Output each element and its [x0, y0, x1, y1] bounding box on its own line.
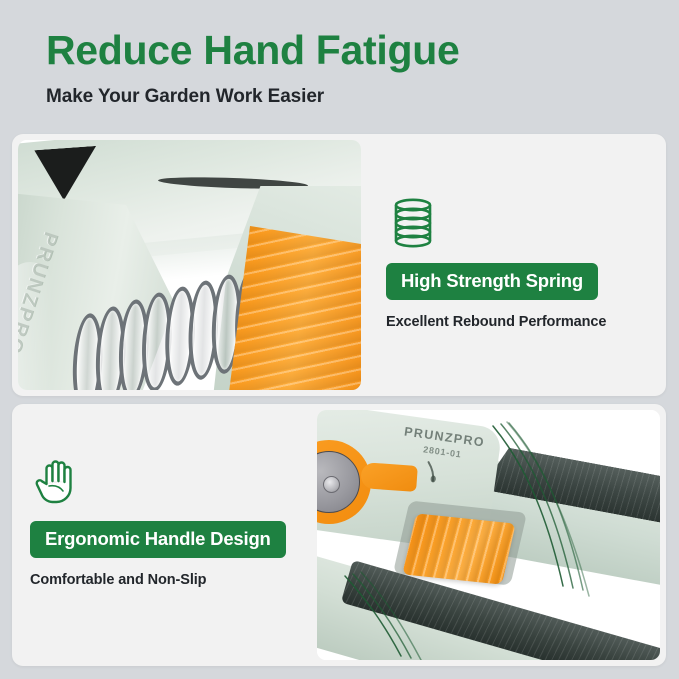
feature-text-spring: High Strength Spring Excellent Rebound P…	[386, 196, 654, 330]
pivot-screw	[323, 476, 340, 493]
spring-closeup-photo: PRUNZPRO	[18, 140, 361, 390]
pivot-orange-tab	[360, 462, 418, 492]
spring-coil-icon	[386, 196, 654, 250]
lever-rib-texture	[402, 513, 516, 584]
page-title: Reduce Hand Fatigue	[46, 28, 646, 74]
page-subtitle: Make Your Garden Work Easier	[46, 86, 646, 108]
feature-badge-handle: Ergonomic Handle Design	[30, 521, 286, 558]
pivot-disc	[317, 451, 360, 513]
feature-card-spring: PRUNZPRO	[12, 134, 666, 396]
feature-card-handle: Ergonomic Handle Design Comfortable and …	[12, 404, 666, 666]
feature-text-handle: Ergonomic Handle Design Comfortable and …	[30, 454, 318, 588]
feature-badge-spring: High Strength Spring	[386, 263, 598, 300]
sprout-emblem-icon	[419, 456, 449, 490]
feature-subtitle-handle: Comfortable and Non-Slip	[30, 572, 318, 588]
open-hand-icon	[30, 454, 318, 508]
safety-lock-lever	[402, 513, 516, 584]
feature-subtitle-spring: Excellent Rebound Performance	[386, 314, 654, 330]
header-block: Reduce Hand Fatigue Make Your Garden Wor…	[46, 28, 646, 108]
handle-closeup-photo: PRUNZPRO 2801-01	[317, 410, 660, 660]
